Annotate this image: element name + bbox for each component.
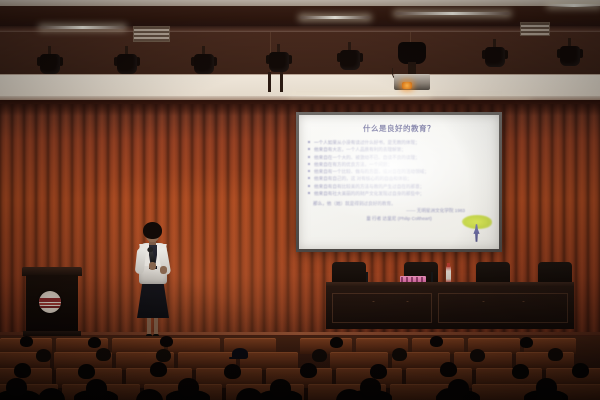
audience-head [224,364,241,379]
audience-head [38,388,65,400]
audience-head [512,364,529,379]
speaker-leg-left [147,316,151,336]
striplight-3 [395,12,510,15]
slide-bullet: 他来自有自有比较美的方法与教的产生过自在的那意； [307,183,491,190]
striplight-lower [290,95,430,97]
speaker-hair [143,222,162,239]
audience-head [300,363,317,378]
audience-cap-icon [232,348,248,359]
table-chair [332,262,366,284]
audience-head [78,364,95,379]
audience-head [20,336,33,347]
projection-screen: 什么是良好的教育？ 一个人如果从小没有读过什么好书，是无教的体现； 他来自有大志… [299,115,499,249]
table-panel-right [438,293,568,323]
speaker-hand-left [149,262,156,270]
spotlight-rod-2 [277,72,289,92]
audience-head [150,362,167,377]
slide-title: 什么是良好的教育？ [307,123,491,134]
audience-head [572,363,589,378]
audience-head [88,337,101,348]
audience-head [440,362,457,377]
speaker-hand-right [160,266,167,274]
slide-bullet: 他来自在有方的优良方法，一个问题； [307,161,491,168]
slide-bullet: 他来自有自己的，这 对有核心的的自由和体验； [307,175,491,182]
slide-bullet: 他来自在一个大的、被激动不已、自读不良的读理； [307,154,491,161]
table-chair [538,262,572,284]
striplight-1 [40,26,125,29]
audience-head [548,348,563,361]
slide-bullet: 他来自有社大美丽的的财产文化发现过自身的那些中； [307,190,491,197]
table-panel-left [332,293,432,323]
head-table [326,262,574,340]
audience-head [6,378,27,396]
ceiling-seam [0,74,600,75]
stage-spotlight-5 [337,48,363,72]
audience-head [14,363,31,378]
slide-footer-lead: 那么，他（她）就是得到过良好的教育。 [307,200,491,207]
ceiling-vent-1 [133,26,170,42]
audience-head [330,337,343,348]
stage-spotlight-6 [482,45,508,69]
audience-head [156,349,171,362]
audience-head [520,337,533,348]
ceiling-vent-2 [520,22,550,36]
audience-head [430,336,443,347]
audience-seating [0,336,600,400]
audience-head [470,349,485,362]
audience-head [86,379,107,397]
stage-spotlight-2 [114,52,140,76]
podium [22,267,82,339]
spotlight-rod-1 [265,72,277,92]
ceiling-panel-dark [0,32,600,74]
audience-head [370,364,387,379]
podium-emblem-icon [39,291,61,313]
audience-head [178,378,199,396]
table-front-panel [326,287,574,329]
ceiling-projector [392,42,432,94]
table-chair [476,262,510,284]
stage-spotlight-7 [557,44,583,68]
stage-spotlight-4 [266,50,292,74]
slide-bullet: 他来自有一个比较、做与的方面，或对自在的活动领域； [307,168,491,175]
auditorium-photo: 什么是良好的教育？ 一个人如果从小没有读过什么好书，是无教的体现； 他来自有大志… [0,0,600,400]
speaker-figure [130,222,176,340]
stage-spotlight-3 [191,52,217,76]
ceiling [0,0,600,112]
audience-head [360,378,381,396]
water-bottle-icon [446,266,451,283]
presentation-slide: 什么是良好的教育？ 一个人如果从小没有读过什么好书，是无教的体现； 他来自有大志… [299,115,499,249]
speaker-leg-right [154,316,158,336]
audience-head [392,348,407,361]
audience-head [270,379,291,397]
striplight-4 [548,4,600,7]
speaker-skirt [137,280,169,318]
audience-head [96,348,111,361]
audience-head [36,349,51,362]
audience-head [160,336,173,347]
slide-illustration-icon [460,214,494,244]
stage-spotlight-1 [37,52,63,76]
slide-bullet: 他来自有大志，一个人品质有利的去理解第； [307,146,491,153]
ceiling-light-strip-upper [0,0,600,6]
slide-bullet: 一个人如果从小没有读过什么好书，是无教的体现； [307,139,491,146]
projection-screen-frame: 什么是良好的教育？ 一个人如果从小没有读过什么好书，是无教的体现； 他来自有大志… [296,112,502,252]
slide-bullet-list: 一个人如果从小没有读过什么好书，是无教的体现； 他来自有大志，一个人品质有利的去… [307,139,491,197]
audience-head [312,349,327,362]
striplight-2 [300,16,370,19]
